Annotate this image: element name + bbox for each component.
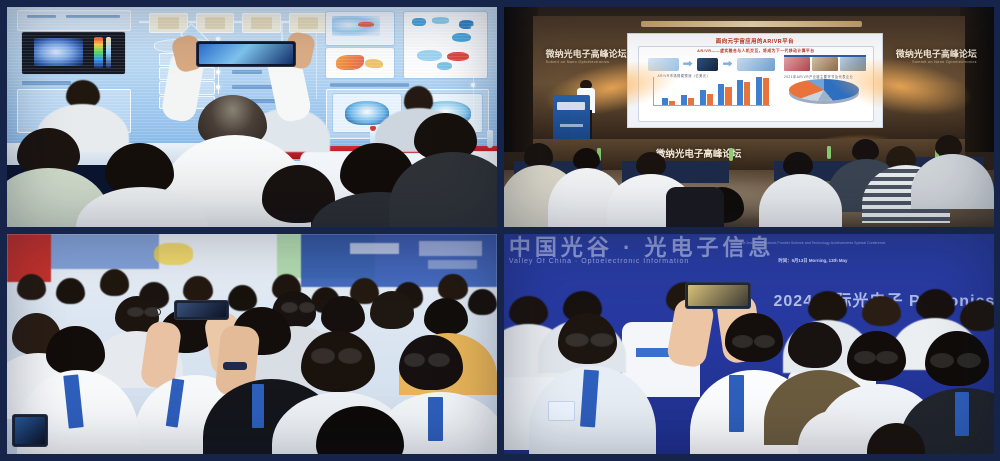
photo-collage: 微纳光电子高峰论坛 Submit on Nano Optoelectronics… [0,0,1000,461]
collage-grid: 微纳光电子高峰论坛 Submit on Nano Optoelectronics… [7,7,993,454]
photo-top-right[interactable]: 微纳光电子高峰论坛 Submit on Nano Optoelectronics… [504,7,994,227]
audience-front-row [7,7,497,227]
smartphone-icon-2 [12,414,48,447]
audience-right-cluster [504,234,994,454]
photo-top-left[interactable] [7,7,497,227]
photo-bottom-left[interactable] [7,234,497,454]
audience-front-row [7,234,497,454]
seated-audience [504,7,994,227]
photo-bottom-right[interactable]: 中国光谷 · 光电子信息 Valley Of China · Optoelect… [504,234,994,454]
